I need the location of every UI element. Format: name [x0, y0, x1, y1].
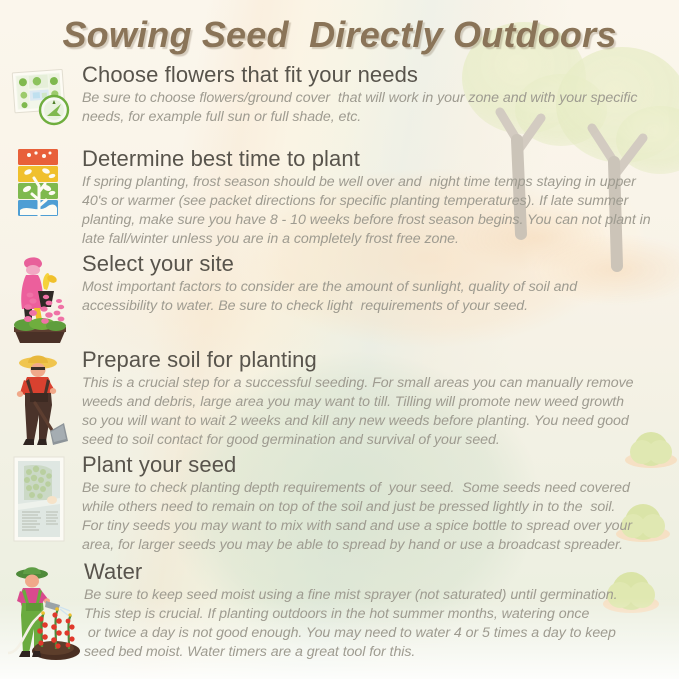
gardener-watering-icon — [8, 561, 82, 661]
step-text: Water Be sure to keep seed moist using a… — [82, 559, 649, 662]
body-line: seed bed moist. Water timers are a great… — [84, 643, 649, 662]
step-body: If spring planting, frost season should … — [82, 173, 651, 249]
infographic-poster: Sowing Seed Directly Outdoors — [0, 0, 679, 679]
step-text: Select your site Most important factors … — [80, 251, 649, 316]
body-line: Be sure to choose flowers/ground cover t… — [82, 89, 649, 108]
body-line: needs, for example full sun or full shad… — [82, 108, 649, 127]
body-line: Most important factors to consider are t… — [82, 278, 649, 297]
step-body: Be sure to choose flowers/ground cover t… — [82, 89, 649, 127]
step-text: Choose flowers that fit your needs Be su… — [80, 62, 649, 127]
body-line: Be sure to check planting depth requirem… — [82, 479, 649, 498]
step-heading: Choose flowers that fit your needs — [82, 62, 649, 88]
body-line: area, for larger seeds you may be able t… — [82, 536, 649, 555]
body-line: This step is crucial. If planting outdoo… — [84, 605, 649, 624]
step-item-prepare-soil: Prepare soil for planting This is a cruc… — [0, 347, 679, 450]
body-line: seed to soil contact for good germinatio… — [82, 431, 649, 450]
step-heading: Prepare soil for planting — [82, 347, 649, 373]
step-text: Plant your seed Be sure to check plantin… — [80, 452, 649, 555]
step-text: Prepare soil for planting This is a cruc… — [80, 347, 649, 450]
steps-list: Choose flowers that fit your needs Be su… — [0, 62, 679, 664]
body-line: late fall/winter unless you are in a com… — [82, 230, 651, 249]
step-item-water: Water Be sure to keep seed moist using a… — [0, 559, 679, 662]
body-line: or twice a day is not good enough. You m… — [84, 624, 649, 643]
step-text: Determine best time to plant If spring p… — [80, 146, 651, 249]
step-heading: Select your site — [82, 251, 649, 277]
seed-packet-icon — [8, 454, 80, 548]
body-line: Be sure to keep seed moist using a fine … — [84, 586, 649, 605]
step-item-choose-flowers: Choose flowers that fit your needs Be su… — [0, 62, 679, 140]
body-line: while others need to remain on top of th… — [82, 498, 649, 517]
step-body: Be sure to check planting depth requirem… — [82, 479, 649, 555]
step-heading: Plant your seed — [82, 452, 649, 478]
page-title: Sowing Seed Directly Outdoors — [0, 14, 679, 56]
body-line: 40's or warmer (see packet directions fo… — [82, 192, 651, 211]
body-line: For tiny seeds you may want to mix with … — [82, 517, 649, 536]
four-seasons-icon — [8, 148, 80, 220]
gardener-pink-flowers-icon — [8, 253, 80, 345]
gardener-shovel-icon — [8, 349, 80, 449]
garden-plan-compass-icon — [8, 64, 80, 140]
body-line: so you will want to wait 2 weeks and kil… — [82, 412, 649, 431]
body-line: If spring planting, frost season should … — [82, 173, 651, 192]
body-line: This is a crucial step for a successful … — [82, 374, 649, 393]
step-item-select-site: Select your site Most important factors … — [0, 251, 679, 345]
step-body: Most important factors to consider are t… — [82, 278, 649, 316]
body-line: accessibility to water. Be sure to check… — [82, 297, 649, 316]
body-line: planting, make sure you have 8 - 10 week… — [82, 211, 651, 230]
body-line: weeds and debris, large area you may wan… — [82, 393, 649, 412]
step-item-determine-time: Determine best time to plant If spring p… — [0, 146, 679, 249]
step-body: Be sure to keep seed moist using a fine … — [84, 586, 649, 662]
step-item-plant-seed: Plant your seed Be sure to check plantin… — [0, 452, 679, 555]
step-heading: Determine best time to plant — [82, 146, 651, 172]
step-body: This is a crucial step for a successful … — [82, 374, 649, 450]
step-heading: Water — [84, 559, 649, 585]
